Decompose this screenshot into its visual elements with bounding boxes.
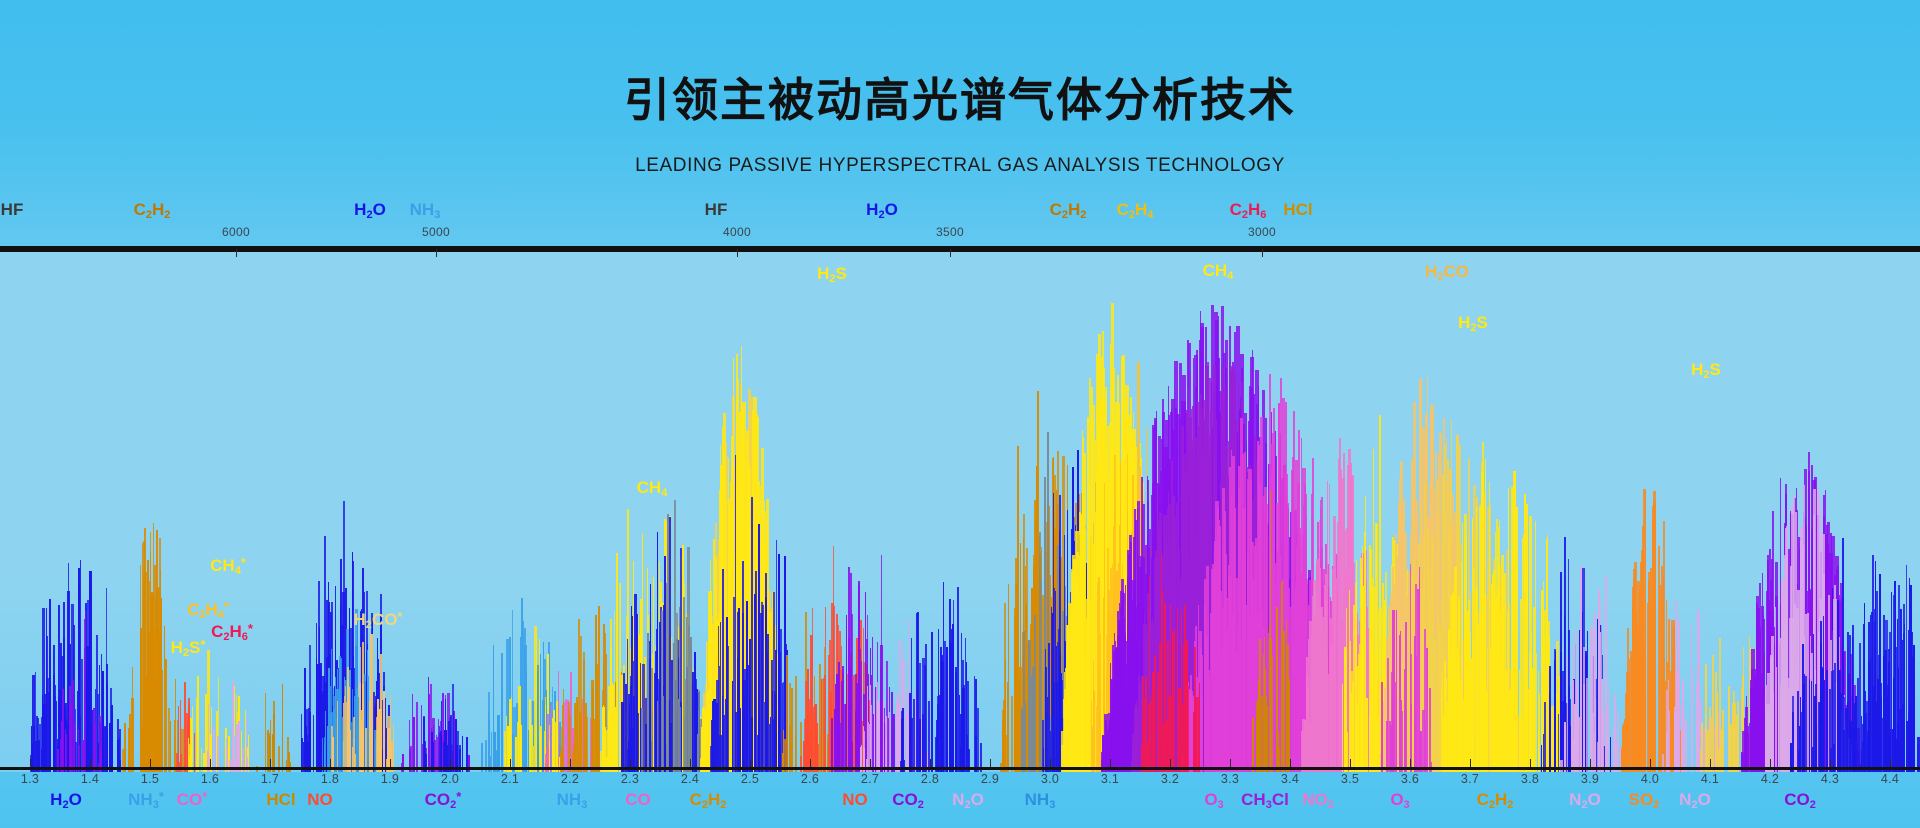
bottom-axis-tick-label: 3.5 bbox=[1341, 772, 1359, 786]
bottom-axis-tick bbox=[990, 759, 991, 767]
gas-label-bottom: NH3 bbox=[557, 790, 588, 810]
gas-label-inplot: C2H4* bbox=[187, 600, 229, 620]
bottom-axis-tick-label: 4.3 bbox=[1821, 772, 1839, 786]
bottom-axis-tick bbox=[690, 759, 691, 767]
gas-label-bottom: H2O bbox=[50, 790, 82, 810]
bottom-axis-tick bbox=[630, 759, 631, 767]
bottom-axis-tick-label: 1.9 bbox=[381, 772, 399, 786]
gas-label-inplot: C2H6* bbox=[211, 622, 253, 642]
top-axis-tick bbox=[436, 249, 437, 257]
bottom-axis-tick bbox=[1410, 759, 1411, 767]
bottom-axis-tick bbox=[1770, 759, 1771, 767]
bottom-axis-tick bbox=[1170, 759, 1171, 767]
bottom-axis-tick bbox=[390, 759, 391, 767]
gas-label-bottom: N2O bbox=[1679, 790, 1711, 810]
top-axis-tick bbox=[1262, 249, 1263, 257]
bottom-axis-tick bbox=[750, 759, 751, 767]
gas-label-bottom: HCl bbox=[266, 790, 295, 810]
bottom-axis-tick-label: 4.0 bbox=[1641, 772, 1659, 786]
bottom-axis-tick-label: 2.4 bbox=[681, 772, 699, 786]
spectrum-lines bbox=[0, 252, 1920, 772]
bottom-axis-tick-label: 2.9 bbox=[981, 772, 999, 786]
bottom-axis-tick-label: 3.2 bbox=[1161, 772, 1179, 786]
bottom-axis-tick bbox=[1830, 759, 1831, 767]
bottom-axis-tick bbox=[1050, 759, 1051, 767]
bottom-axis-tick bbox=[1230, 759, 1231, 767]
bottom-axis-tick-label: 4.2 bbox=[1761, 772, 1779, 786]
bottom-axis-tick bbox=[330, 759, 331, 767]
bottom-axis-tick-label: 2.8 bbox=[921, 772, 939, 786]
bottom-axis-tick bbox=[90, 759, 91, 767]
gas-label-bottom: CO bbox=[625, 790, 651, 810]
bottom-axis-tick-label: 3.4 bbox=[1281, 772, 1299, 786]
gas-label-inplot: H2S bbox=[1691, 360, 1721, 380]
gas-label-bottom: O3 bbox=[1204, 790, 1223, 810]
gas-label-bottom: NH3* bbox=[128, 790, 164, 810]
bottom-axis-tick-label: 1.5 bbox=[141, 772, 159, 786]
bottom-axis-tick bbox=[510, 759, 511, 767]
top-axis-tick bbox=[950, 249, 951, 257]
bottom-axis-tick-label: 3.3 bbox=[1221, 772, 1239, 786]
bottom-axis-tick-label: 1.8 bbox=[321, 772, 339, 786]
gas-label-bottom: C2H2 bbox=[690, 790, 727, 810]
bottom-axis-tick-label: 2.3 bbox=[621, 772, 639, 786]
bottom-axis-tick-label: 3.8 bbox=[1521, 772, 1539, 786]
gas-label-inplot: CH4 bbox=[1203, 261, 1234, 281]
bottom-axis-tick bbox=[1590, 759, 1591, 767]
bottom-axis-tick-label: 4.1 bbox=[1701, 772, 1719, 786]
gas-label-inplot: H2S bbox=[817, 264, 847, 284]
gas-label-inplot: H2S* bbox=[171, 638, 206, 658]
bottom-axis-tick-label: 3.7 bbox=[1461, 772, 1479, 786]
spectrum-plot bbox=[0, 249, 1920, 772]
bottom-axis-tick bbox=[570, 759, 571, 767]
top-axis-tick bbox=[737, 249, 738, 257]
spectral-poster: 引领主被动高光谱气体分析技术 LEADING PASSIVE HYPERSPEC… bbox=[0, 0, 1920, 828]
bottom-axis-tick-label: 2.2 bbox=[561, 772, 579, 786]
bottom-axis-tick-label: 3.0 bbox=[1041, 772, 1059, 786]
bottom-axis-tick-label: 3.9 bbox=[1581, 772, 1599, 786]
gas-label-bottom: CH3Cl bbox=[1241, 790, 1289, 810]
bottom-axis-tick bbox=[270, 759, 271, 767]
page-title: 引领主被动高光谱气体分析技术 bbox=[0, 64, 1920, 130]
gas-label-inplot: H2CO* bbox=[354, 610, 403, 630]
bottom-axis-tick-label: 2.5 bbox=[741, 772, 759, 786]
gas-label-bottom: CO* bbox=[177, 790, 208, 810]
bottom-axis-tick bbox=[150, 759, 151, 767]
gas-label-bottom: NH3 bbox=[1025, 790, 1056, 810]
bottom-axis-tick bbox=[810, 759, 811, 767]
gas-label-bottom: NO2 bbox=[1302, 790, 1334, 810]
gas-label-inplot: CH4 bbox=[637, 478, 668, 498]
bottom-axis-tick-label: 2.0 bbox=[441, 772, 459, 786]
gas-label-bottom: SO2 bbox=[1629, 790, 1660, 810]
bottom-axis-tick bbox=[1890, 759, 1891, 767]
gas-label-bottom: O3 bbox=[1390, 790, 1409, 810]
gas-label-inplot: H2S bbox=[1458, 313, 1488, 333]
bottom-axis-tick-label: 2.6 bbox=[801, 772, 819, 786]
gas-label-bottom: C2H2 bbox=[1477, 790, 1514, 810]
bottom-axis-tick-label: 3.6 bbox=[1401, 772, 1419, 786]
bottom-axis-tick bbox=[1530, 759, 1531, 767]
bottom-axis-tick-label: 1.6 bbox=[201, 772, 219, 786]
bottom-axis-tick-label: 4.4 bbox=[1881, 772, 1899, 786]
bottom-axis-tick bbox=[450, 759, 451, 767]
header: 引领主被动高光谱气体分析技术 LEADING PASSIVE HYPERSPEC… bbox=[0, 0, 1920, 250]
gas-label-bottom: NO bbox=[307, 790, 333, 810]
bottom-axis-tick-label: 3.1 bbox=[1101, 772, 1119, 786]
bottom-axis-tick bbox=[210, 759, 211, 767]
bottom-axis-tick-label: 1.7 bbox=[261, 772, 279, 786]
page-subtitle: LEADING PASSIVE HYPERSPECTRAL GAS ANALYS… bbox=[0, 155, 1920, 177]
gas-label-bottom: N2O bbox=[952, 790, 984, 810]
bottom-axis-tick bbox=[1650, 759, 1651, 767]
bottom-axis-tick bbox=[930, 759, 931, 767]
gas-label-bottom: NO bbox=[842, 790, 868, 810]
bottom-axis-tick-label: 2.1 bbox=[501, 772, 519, 786]
bottom-axis-tick bbox=[1110, 759, 1111, 767]
gas-label-bottom: CO2 bbox=[892, 790, 924, 810]
bottom-axis-tick-label: 1.4 bbox=[81, 772, 99, 786]
top-axis-tick bbox=[236, 249, 237, 257]
gas-label-inplot: CH4* bbox=[210, 556, 246, 576]
gas-label-inplot: H2CO bbox=[1425, 262, 1469, 282]
bottom-axis-tick-label: 1.3 bbox=[21, 772, 39, 786]
bottom-axis-tick bbox=[1290, 759, 1291, 767]
gas-label-bottom: CO2 bbox=[1784, 790, 1816, 810]
gas-label-bottom: N2O bbox=[1569, 790, 1601, 810]
bottom-axis-tick bbox=[1470, 759, 1471, 767]
gas-label-bottom: CO2* bbox=[425, 790, 462, 810]
bottom-axis-line bbox=[0, 767, 1920, 770]
bottom-axis-tick-label: 2.7 bbox=[861, 772, 879, 786]
bottom-axis-tick bbox=[870, 759, 871, 767]
bottom-axis-tick bbox=[30, 759, 31, 767]
bottom-axis-tick bbox=[1350, 759, 1351, 767]
bottom-axis-tick bbox=[1710, 759, 1711, 767]
